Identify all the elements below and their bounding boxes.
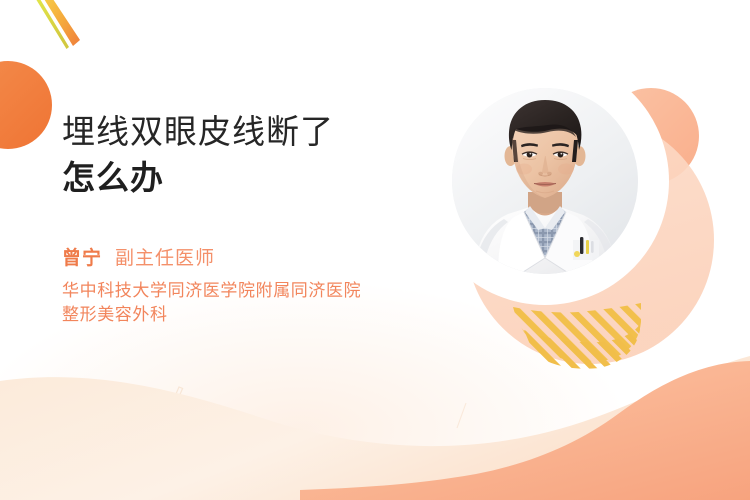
affiliation-line-1: 华中科技大学同济医学院附属同济医院 [62, 279, 462, 303]
text-content-block: 埋线双眼皮线断了 怎么办 曾宁副主任医师 华中科技大学同济医学院附属同济医院 整… [62, 112, 462, 327]
yellow-stripe-blob-icon [500, 315, 660, 385]
article-cover-card: 埋线双眼皮线断了 怎么办 曾宁副主任医师 华中科技大学同济医学院附属同济医院 整… [0, 0, 750, 500]
page-title-line-1: 埋线双眼皮线断了 [62, 112, 462, 152]
affiliation-line-2: 整形美容外科 [62, 303, 462, 327]
doctor-credentials-line: 曾宁副主任医师 [62, 243, 462, 270]
page-title-line-2: 怎么办 [62, 158, 462, 198]
doctor-title: 副主任医师 [115, 248, 215, 269]
doctor-name: 曾宁 [62, 248, 102, 269]
